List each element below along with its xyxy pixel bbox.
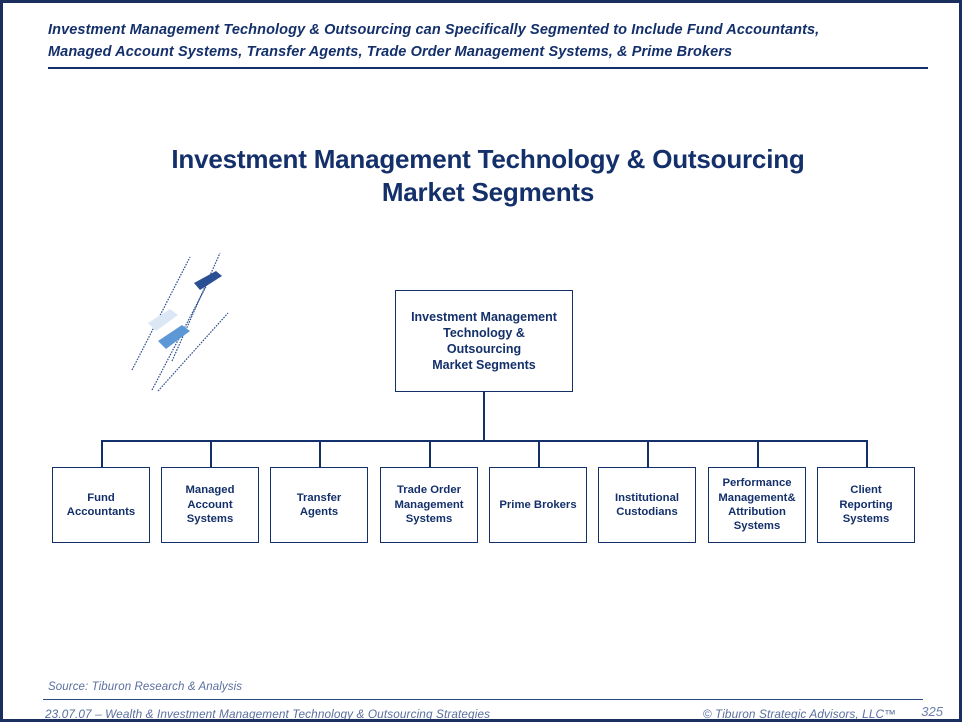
page-title-line-2: Market Segments bbox=[153, 176, 823, 209]
header-title-line-2: Managed Account Systems, Transfer Agents… bbox=[48, 41, 923, 63]
org-node-8-line-2: Reporting bbox=[839, 498, 892, 512]
tiburon-diagonal-mark-icon bbox=[128, 235, 238, 400]
org-node-3-line-2: Agents bbox=[297, 505, 342, 519]
org-node-4-line-1: Trade Order bbox=[394, 483, 463, 497]
org-node-1-line-1: Fund bbox=[67, 491, 135, 505]
org-node-root-line-3: Outsourcing bbox=[411, 341, 557, 357]
header-title-line-1: Investment Management Technology & Outso… bbox=[48, 19, 923, 41]
org-node-fund-accountants[interactable]: Fund Accountants bbox=[52, 467, 150, 543]
connector-drop-4 bbox=[429, 440, 431, 468]
source-note: Source: Tiburon Research & Analysis bbox=[48, 681, 242, 693]
footer-document-title: 23.07.07 – Wealth & Investment Managemen… bbox=[45, 707, 490, 721]
org-node-managed-account-systems[interactable]: Managed Account Systems bbox=[161, 467, 259, 543]
connector-drop-1 bbox=[101, 440, 103, 468]
org-node-prime-brokers[interactable]: Prime Brokers bbox=[489, 467, 587, 543]
org-node-client-reporting-systems[interactable]: Client Reporting Systems bbox=[817, 467, 915, 543]
footer-copyright: © Tiburon Strategic Advisors, LLC™ bbox=[703, 707, 896, 721]
org-node-4-line-3: Systems bbox=[394, 512, 463, 526]
header-divider bbox=[48, 67, 928, 69]
slide: Investment Management Technology & Outso… bbox=[0, 0, 962, 722]
org-node-2-line-2: Account bbox=[186, 498, 235, 512]
page-number: 325 bbox=[921, 704, 943, 719]
org-node-8-line-3: Systems bbox=[839, 512, 892, 526]
connector-drop-7 bbox=[757, 440, 759, 468]
org-node-transfer-agents[interactable]: Transfer Agents bbox=[270, 467, 368, 543]
connector-drop-8 bbox=[866, 440, 868, 468]
connector-bus bbox=[101, 440, 868, 442]
connector-drop-5 bbox=[538, 440, 540, 468]
connector-drop-2 bbox=[210, 440, 212, 468]
page-title-line-1: Investment Management Technology & Outso… bbox=[153, 143, 823, 176]
slide-header: Investment Management Technology & Outso… bbox=[48, 19, 923, 64]
page-title: Investment Management Technology & Outso… bbox=[153, 143, 823, 210]
org-node-root-line-2: Technology & bbox=[411, 325, 557, 341]
org-node-6-line-1: Institutional bbox=[615, 491, 679, 505]
org-node-7-line-3: Attribution bbox=[718, 505, 795, 519]
org-node-3-line-1: Transfer bbox=[297, 491, 342, 505]
connector-drop-6 bbox=[647, 440, 649, 468]
org-node-performance-management-attribution-systems[interactable]: Performance Management& Attribution Syst… bbox=[708, 467, 806, 543]
org-node-trade-order-management-systems[interactable]: Trade Order Management Systems bbox=[380, 467, 478, 543]
footer-divider bbox=[43, 699, 923, 700]
org-node-2-line-1: Managed bbox=[186, 483, 235, 497]
org-node-8-line-1: Client bbox=[839, 483, 892, 497]
org-node-7-line-2: Management& bbox=[718, 491, 795, 505]
org-node-1-line-2: Accountants bbox=[67, 505, 135, 519]
org-node-4-line-2: Management bbox=[394, 498, 463, 512]
org-node-7-line-4: Systems bbox=[718, 519, 795, 533]
org-node-root[interactable]: Investment Management Technology & Outso… bbox=[395, 290, 573, 392]
org-node-root-line-4: Market Segments bbox=[411, 357, 557, 373]
org-node-root-line-1: Investment Management bbox=[411, 309, 557, 325]
org-node-5-line-1: Prime Brokers bbox=[499, 498, 576, 512]
org-node-6-line-2: Custodians bbox=[615, 505, 679, 519]
connector-drop-3 bbox=[319, 440, 321, 468]
org-node-7-line-1: Performance bbox=[718, 476, 795, 490]
org-node-institutional-custodians[interactable]: Institutional Custodians bbox=[598, 467, 696, 543]
connector-root-drop bbox=[483, 392, 485, 441]
org-node-2-line-3: Systems bbox=[186, 512, 235, 526]
